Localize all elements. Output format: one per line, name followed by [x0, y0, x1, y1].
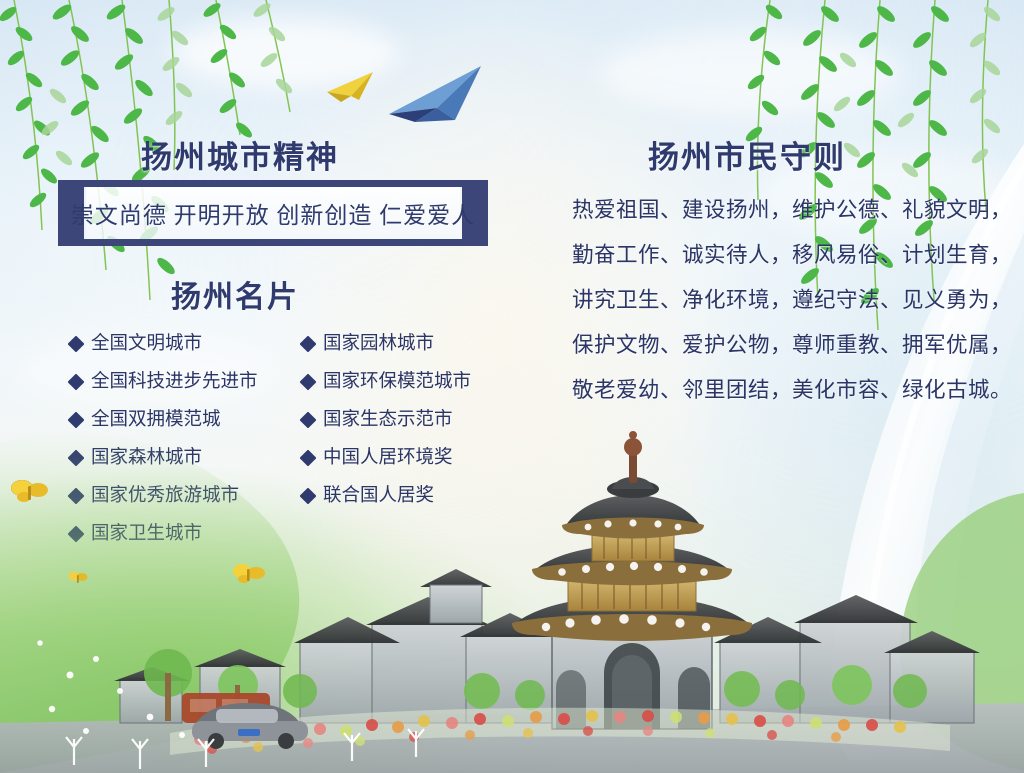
badge-label: 中国人居环境奖	[323, 449, 453, 468]
badge-label: 国家园林城市	[323, 335, 434, 354]
badge-label: 全国文明城市	[91, 335, 202, 354]
badge-label: 国家森林城市	[91, 449, 202, 468]
diamond-bullet-icon	[68, 412, 85, 429]
badge-label: 全国科技进步先进市	[91, 373, 258, 392]
diamond-bullet-icon	[68, 526, 85, 543]
diamond-bullet-icon	[68, 450, 85, 467]
list-item: 联合国人居奖	[288, 477, 498, 515]
code-line: 勤奋工作、诚实待人，移风易俗、计划生育，	[572, 233, 992, 278]
poster-canvas: 扬州城市精神 崇文尚德 开明开放 创新创造 仁爱爱人 扬州名片 全国文明城市	[0, 0, 1024, 773]
page-title-city-spirit: 扬州城市精神	[0, 132, 480, 177]
badge-column-2: 国家园林城市 国家环保模范城市 国家生态示范市 中国人居环境奖 联合国人居奖	[288, 325, 498, 553]
badge-column-1: 全国文明城市 全国科技进步先进市 全国双拥模范城 国家森林城市 国家优秀旅游城市	[70, 325, 280, 553]
list-item: 全国文明城市	[70, 325, 280, 363]
page-title-citizen-code: 扬州市民守则	[512, 132, 982, 177]
diamond-bullet-icon	[68, 374, 85, 391]
code-line: 敬老爱幼、邻里团结，美化市容、绿化古城。	[572, 368, 992, 413]
badge-label: 全国双拥模范城	[91, 411, 221, 430]
badge-label: 联合国人居奖	[323, 487, 434, 506]
section-title-city-cards: 扬州名片	[0, 272, 470, 316]
diamond-bullet-icon	[68, 488, 85, 505]
city-spirit-motto-banner: 崇文尚德 开明开放 创新创造 仁爱爱人	[58, 180, 488, 246]
diamond-bullet-icon	[300, 450, 317, 467]
city-badge-lists: 全国文明城市 全国科技进步先进市 全国双拥模范城 国家森林城市 国家优秀旅游城市	[70, 325, 500, 553]
list-item: 全国双拥模范城	[70, 401, 280, 439]
list-item: 全国科技进步先进市	[70, 363, 280, 401]
list-item: 国家环保模范城市	[288, 363, 498, 401]
list-item: 国家优秀旅游城市	[70, 477, 280, 515]
right-column: 扬州市民守则 热爱祖国、建设扬州，维护公德、礼貌文明， 勤奋工作、诚实待人，移风…	[512, 0, 1024, 773]
code-line: 热爱祖国、建设扬州，维护公德、礼貌文明，	[572, 188, 992, 233]
diamond-bullet-icon	[300, 488, 317, 505]
list-item: 国家森林城市	[70, 439, 280, 477]
list-item: 中国人居环境奖	[288, 439, 498, 477]
badge-label: 国家生态示范市	[323, 411, 453, 430]
code-line: 保护文物、爱护公物，尊师重教、拥军优属，	[572, 323, 992, 368]
left-column: 扬州城市精神 崇文尚德 开明开放 创新创造 仁爱爱人 扬州名片 全国文明城市	[0, 0, 510, 773]
citizen-code-body: 热爱祖国、建设扬州，维护公德、礼貌文明， 勤奋工作、诚实待人，移风易俗、计划生育…	[572, 188, 992, 413]
motto-text: 崇文尚德 开明开放 创新创造 仁爱爱人	[71, 196, 475, 230]
list-item: 国家卫生城市	[70, 515, 280, 553]
code-line: 讲究卫生、净化环境，遵纪守法、见义勇为，	[572, 278, 992, 323]
badge-label: 国家环保模范城市	[323, 373, 471, 392]
diamond-bullet-icon	[300, 336, 317, 353]
motto-frame-bottom-rail	[58, 239, 488, 246]
badge-label: 国家优秀旅游城市	[91, 487, 239, 506]
list-item: 国家园林城市	[288, 325, 498, 363]
list-item: 国家生态示范市	[288, 401, 498, 439]
motto-frame-top-rail	[58, 180, 488, 187]
diamond-bullet-icon	[68, 336, 85, 353]
badge-label: 国家卫生城市	[91, 525, 202, 544]
diamond-bullet-icon	[300, 374, 317, 391]
diamond-bullet-icon	[300, 412, 317, 429]
motto-inner-panel: 崇文尚德 开明开放 创新创造 仁爱爱人	[86, 187, 460, 239]
